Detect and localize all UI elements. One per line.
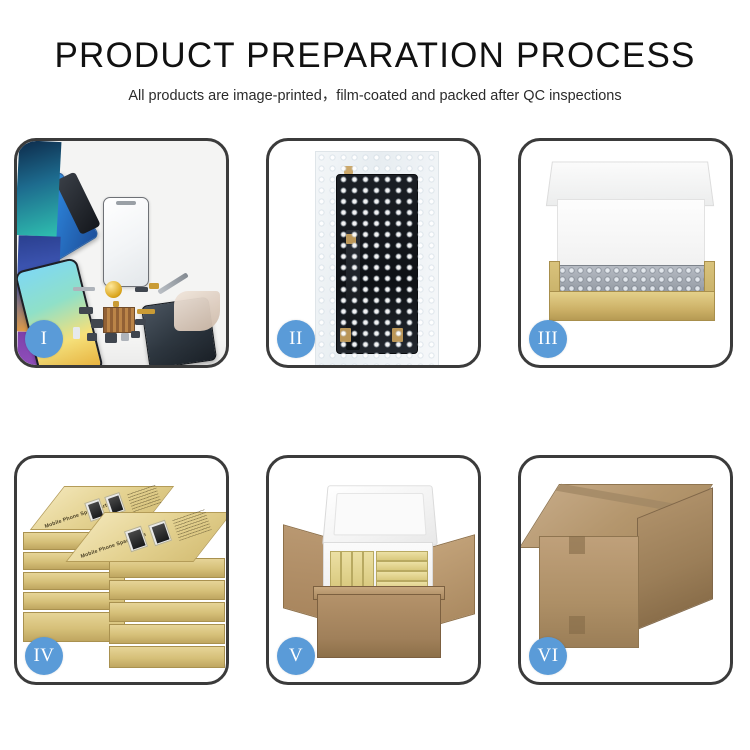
spare-part-graphic [137, 309, 155, 314]
process-step-panel-5: V [266, 455, 481, 685]
step-badge-5: V [277, 637, 315, 675]
phone-graphic-5 [17, 141, 61, 237]
spare-part-graphic [87, 333, 97, 341]
step-badge-6: VI [529, 637, 567, 675]
process-step-panel-3: III [518, 138, 733, 368]
spare-part-graphic [135, 319, 146, 325]
retail-box-inside [376, 551, 428, 561]
spare-part-graphic [79, 307, 93, 314]
carton-body-graphic [317, 594, 441, 658]
spare-part-graphic [121, 333, 129, 341]
retail-box-inside [376, 561, 428, 571]
step-badge-1: I [25, 320, 63, 358]
retail-box-inside [330, 551, 341, 589]
page-title: PRODUCT PREPARATION PROCESS [0, 36, 750, 76]
process-step-panel-1: I [14, 138, 229, 368]
page-subtitle: All products are image-printed，film-coat… [0, 87, 750, 105]
spare-part-graphic [91, 319, 103, 328]
tempered-glass-graphic [103, 197, 149, 287]
spare-part-graphic [105, 333, 117, 343]
tape-graphic [340, 328, 351, 342]
tweezers-graphic [174, 291, 220, 331]
spare-part-graphic [149, 283, 159, 289]
bubble-wrap-bag-graphic [315, 151, 439, 365]
retail-box-inside [352, 551, 363, 589]
stacked-box-edge [109, 624, 225, 644]
styrofoam-lid-graphic [322, 485, 438, 545]
infographic-page: PRODUCT PREPARATION PROCESS All products… [0, 0, 750, 750]
spare-part-graphic [113, 301, 119, 307]
process-step-grid: I II [14, 138, 737, 688]
spare-part-graphic [131, 331, 140, 338]
process-step-panel-2: II [266, 138, 481, 368]
tape-graphic [344, 166, 353, 174]
spare-part-graphic [135, 287, 148, 292]
stacked-box-edge [109, 646, 225, 668]
tape-graphic [392, 328, 403, 342]
carton-front-face [539, 536, 639, 648]
carton-tape-tab [569, 616, 585, 634]
process-step-panel-4: Mobile Phone Spare Parts Mobile Phone Sp… [14, 455, 229, 685]
retail-box-inside [341, 551, 352, 589]
foam-sheet-graphic [557, 199, 705, 269]
carton-tape-tab [569, 536, 585, 554]
retail-box-inside [376, 571, 428, 581]
tape-graphic [346, 234, 356, 244]
step-badge-2: II [277, 320, 315, 358]
step-badge-3: III [529, 320, 567, 358]
stacked-box-edge [109, 580, 225, 600]
gold-component-graphic [105, 281, 122, 298]
stacked-box-edge [109, 602, 225, 622]
flex-cable-graphic [346, 230, 360, 350]
process-step-panel-6: VI [518, 455, 733, 685]
header: PRODUCT PREPARATION PROCESS All products… [0, 36, 750, 105]
chip-array-graphic [103, 307, 135, 333]
spare-part-graphic [73, 287, 95, 291]
retail-box-inside [363, 551, 374, 589]
kraft-box-base-graphic [549, 291, 715, 321]
wrapped-screen-graphic [336, 174, 418, 354]
step-badge-4: IV [25, 637, 63, 675]
spare-part-graphic [73, 327, 80, 339]
